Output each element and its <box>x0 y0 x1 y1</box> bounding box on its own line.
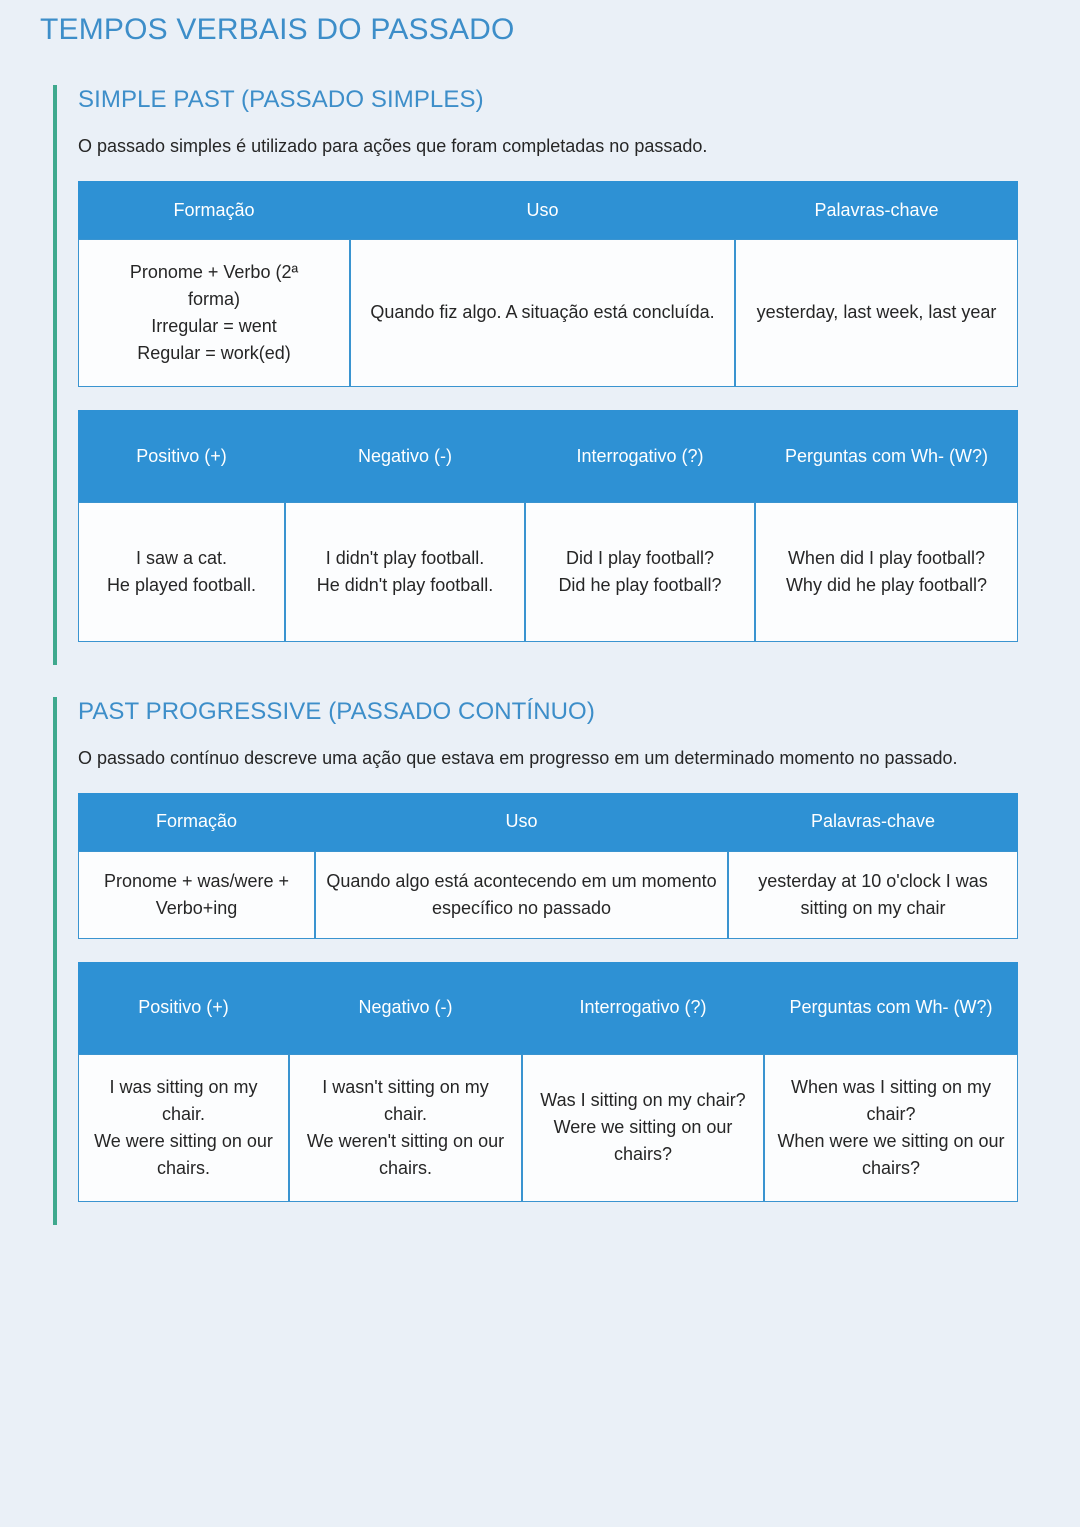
cell-line: I didn't play football. <box>296 545 514 572</box>
cell-line: When did I play football? <box>766 545 1007 572</box>
table-header-row: Positivo (+) Negativo (-) Interrogativo … <box>78 962 1018 1054</box>
table-simple-past-formation: Formação Uso Palavras-chave Pronome + Ve… <box>78 181 1018 387</box>
cell-formacao: Pronome + was/were + Verbo+ing <box>78 851 315 939</box>
table-header-row: Formação Uso Palavras-chave <box>78 793 1018 851</box>
cell-palavras-chave: yesterday, last week, last year <box>735 239 1018 387</box>
cell-uso: Quando fiz algo. A situação está concluí… <box>350 239 735 387</box>
section-description-past-progressive: O passado contínuo descreve uma ação que… <box>78 743 983 775</box>
cell-line: We were sitting on our chairs. <box>89 1128 278 1182</box>
section-past-progressive: PAST PROGRESSIVE (PASSADO CONTÍNUO) O pa… <box>53 697 1053 1225</box>
cell-palavras-chave: yesterday at 10 o'clock I was sitting on… <box>728 851 1018 939</box>
cell-positivo: I was sitting on my chair. We were sitti… <box>78 1054 289 1202</box>
table-simple-past-forms: Positivo (+) Negativo (-) Interrogativo … <box>78 410 1018 642</box>
header-line: Perguntas com Wh- <box>789 997 948 1017</box>
cell-line: He played football. <box>89 572 274 599</box>
cell-line: I wasn't sitting on my chair. <box>300 1074 511 1128</box>
column-header-negativo: Negativo (-) <box>285 410 525 502</box>
cell-line: He didn't play football. <box>296 572 514 599</box>
section-title-past-progressive: PAST PROGRESSIVE (PASSADO CONTÍNUO) <box>78 697 1053 727</box>
cell-positivo: I saw a cat. He played football. <box>78 502 285 642</box>
table-past-progressive-forms: Positivo (+) Negativo (-) Interrogativo … <box>78 962 1018 1202</box>
cell-perguntas-wh: When did I play football? Why did he pla… <box>755 502 1018 642</box>
table-row: I was sitting on my chair. We were sitti… <box>78 1054 1018 1202</box>
section-description-simple-past: O passado simples é utilizado para ações… <box>78 131 983 163</box>
cell-line: Did he play football? <box>536 572 744 599</box>
table-past-progressive-formation: Formação Uso Palavras-chave Pronome + wa… <box>78 793 1018 939</box>
cell-perguntas-wh: When was I sitting on my chair? When wer… <box>764 1054 1018 1202</box>
column-header-positivo: Positivo (+) <box>78 962 289 1054</box>
cell-line: I was sitting on my chair. <box>89 1074 278 1128</box>
column-header-perguntas-wh: Perguntas com Wh- (W?) <box>764 962 1018 1054</box>
header-line: (W?) <box>949 446 988 466</box>
column-header-perguntas-wh: Perguntas com Wh- (W?) <box>755 410 1018 502</box>
cell-negativo: I didn't play football. He didn't play f… <box>285 502 525 642</box>
header-line: Perguntas com Wh- <box>785 446 944 466</box>
column-header-uso: Uso <box>350 181 735 239</box>
header-line: (W?) <box>954 997 993 1017</box>
column-header-palavras-chave: Palavras-chave <box>728 793 1018 851</box>
cell-uso: Quando algo está acontecendo em um momen… <box>315 851 728 939</box>
column-header-positivo: Positivo (+) <box>78 410 285 502</box>
cell-interrogativo: Did I play football? Did he play footbal… <box>525 502 755 642</box>
cell-line: When was I sitting on my chair? <box>775 1074 1007 1128</box>
page-title: TEMPOS VERBAIS DO PASSADO <box>40 13 515 47</box>
cell-line: When were we sitting on our chairs? <box>775 1128 1007 1182</box>
cell-line: We weren't sitting on our chairs. <box>300 1128 511 1182</box>
cell-line: Irregular = went <box>89 313 339 340</box>
cell-line: Why did he play football? <box>766 572 1007 599</box>
table-row: I saw a cat. He played football. I didn'… <box>78 502 1018 642</box>
cell-line: Was I sitting on my chair? <box>533 1087 753 1114</box>
cell-line: Were we sitting on our chairs? <box>533 1114 753 1168</box>
column-header-interrogativo: Interrogativo (?) <box>522 962 764 1054</box>
document-page: TEMPOS VERBAIS DO PASSADO SIMPLE PAST (P… <box>0 0 1080 1527</box>
table-row: Pronome + Verbo (2ª forma) Irregular = w… <box>78 239 1018 387</box>
cell-line: forma) <box>89 286 339 313</box>
cell-line: I saw a cat. <box>89 545 274 572</box>
cell-formacao: Pronome + Verbo (2ª forma) Irregular = w… <box>78 239 350 387</box>
cell-negativo: I wasn't sitting on my chair. We weren't… <box>289 1054 522 1202</box>
table-header-row: Formação Uso Palavras-chave <box>78 181 1018 239</box>
cell-line: Did I play football? <box>536 545 744 572</box>
column-header-formacao: Formação <box>78 181 350 239</box>
column-header-interrogativo: Interrogativo (?) <box>525 410 755 502</box>
column-header-palavras-chave: Palavras-chave <box>735 181 1018 239</box>
section-simple-past: SIMPLE PAST (PASSADO SIMPLES) O passado … <box>53 85 1053 665</box>
column-header-uso: Uso <box>315 793 728 851</box>
table-header-row: Positivo (+) Negativo (-) Interrogativo … <box>78 410 1018 502</box>
section-title-simple-past: SIMPLE PAST (PASSADO SIMPLES) <box>78 85 1053 115</box>
cell-interrogativo: Was I sitting on my chair? Were we sitti… <box>522 1054 764 1202</box>
cell-line: Pronome + Verbo (2ª <box>89 259 339 286</box>
column-header-negativo: Negativo (-) <box>289 962 522 1054</box>
cell-line: Regular = work(ed) <box>89 340 339 367</box>
column-header-formacao: Formação <box>78 793 315 851</box>
table-row: Pronome + was/were + Verbo+ing Quando al… <box>78 851 1018 939</box>
